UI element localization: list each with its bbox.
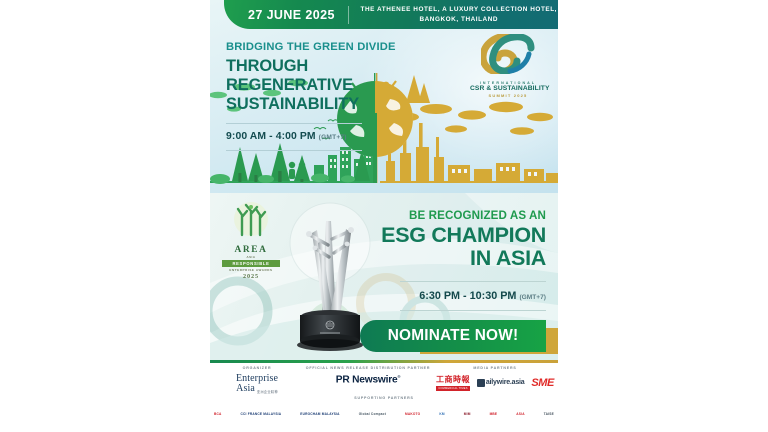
- supporting-partner-label: MBE: [490, 413, 498, 417]
- supporting-partner-label: KM: [439, 413, 444, 417]
- awards-timezone: (GMT+7): [519, 294, 546, 301]
- event-poster: BRIDGING THE GREEN DIVIDE THROUGH REGENE…: [210, 0, 558, 432]
- supporting-partner-label: BCA: [214, 413, 222, 417]
- supporting-partner-label: EUROCHAM MALAYSIA: [300, 413, 339, 417]
- supporting-partner-label: MAKOTO: [405, 413, 420, 417]
- supporting-partner-label: Global Compact: [359, 413, 386, 417]
- enterprise-asia-cn: 亚洲企业精神: [257, 391, 278, 394]
- nominate-now-label: NOMINATE NOW!: [388, 327, 519, 345]
- summit-title-line3: SUSTAINABILITY: [226, 95, 426, 114]
- media-partners-title: MEDIA PARTNERS: [432, 366, 558, 370]
- supporting-partner-bca: BCA: [214, 407, 222, 423]
- enterprise-asia-logo: Enterprise Asia亚洲企业精神: [210, 374, 304, 394]
- commercial-times-logo: 工商時報 COMMERCIAL TIMES: [436, 374, 470, 391]
- pr-newswire-logo: PR Newswire®: [304, 374, 432, 385]
- commercial-times-band: COMMERCIAL TIMES: [436, 386, 470, 391]
- organizer-title: ORGANIZER: [210, 366, 304, 370]
- summit-title-line2: REGENERATIVE: [226, 76, 426, 95]
- awards-banner: AREA ASIA RESPONSIBLE ENTERPRISE AWARDS …: [210, 193, 558, 360]
- event-date: 27 JUNE 2025: [248, 8, 335, 22]
- area-logo-band: RESPONSIBLE: [222, 260, 280, 267]
- pr-partner-column: OFFICIAL NEWS RELEASE DISTRIBUTION PARTN…: [304, 366, 432, 385]
- supporting-partners-title: SUPPORTING PARTNERS: [210, 396, 558, 400]
- primary-partners-row: ORGANIZER Enterprise Asia亚洲企业精神 OFFICIAL…: [210, 366, 558, 394]
- area-logo-mark: [230, 201, 272, 239]
- event-venue: THE ATHENEE HOTEL, A LUXURY COLLECTION H…: [360, 5, 558, 25]
- nominate-cta-wrap[interactable]: NOMINATE NOW!: [360, 320, 558, 354]
- pr-newswire-label: PR Newswire: [336, 374, 398, 385]
- header-divider: [348, 6, 349, 24]
- partners-footer: ORGANIZER Enterprise Asia亚洲企业精神 OFFICIAL…: [210, 360, 558, 432]
- summit-logo: INTERNATIONAL CSR & SUSTAINABILITY SUMMI…: [470, 34, 546, 98]
- commercial-times-cn: 工商時報: [436, 374, 470, 385]
- summit-time: 9:00 AM - 4:00 PM (GMT+7): [226, 131, 426, 142]
- media-logos-row: 工商時報 COMMERCIAL TIMES ailywire.asia SME: [432, 374, 558, 391]
- summit-logo-mark: [481, 34, 535, 74]
- summit-divider-bottom: [226, 150, 362, 151]
- summit-kicker: BRIDGING THE GREEN DIVIDE: [226, 40, 426, 54]
- awards-title-line1: ESG CHAMPION: [370, 224, 546, 247]
- dailywire-square-icon: [477, 379, 485, 387]
- awards-time-value: 6:30 PM - 10:30 PM: [419, 290, 516, 302]
- supporting-partner-label: ASIA: [516, 413, 524, 417]
- footer-accent-bar: [210, 360, 558, 363]
- awards-divider-bottom: [400, 310, 546, 311]
- summit-divider-top: [226, 123, 362, 124]
- enterprise-asia-line1: Enterprise: [210, 374, 304, 384]
- area-logo-sub: ASIA: [218, 255, 284, 259]
- supporting-partner-eurocham-malaysia: EUROCHAM MALAYSIA: [300, 407, 339, 423]
- media-partners-column: MEDIA PARTNERS 工商時報 COMMERCIAL TIMES ail…: [432, 366, 558, 391]
- supporting-partner-makoto: MAKOTO: [405, 407, 420, 423]
- area-logo-band2: ENTERPRISE AWARDS: [218, 268, 284, 272]
- supporting-partner-mim: MIM: [464, 407, 471, 423]
- pr-partner-title: OFFICIAL NEWS RELEASE DISTRIBUTION PARTN…: [304, 366, 432, 370]
- supporting-partners-row: BCACCI FRANCE MALAYSIAEUROCHAM MALAYSIAG…: [214, 404, 554, 426]
- event-header-bar: 27 JUNE 2025 THE ATHENEE HOTEL, A LUXURY…: [224, 0, 558, 29]
- enterprise-asia-line2: Asia: [236, 384, 255, 394]
- supporting-partner-label: MIM: [464, 413, 471, 417]
- awards-kicker: BE RECOGNIZED AS AN: [370, 209, 546, 222]
- awards-time: 6:30 PM - 10:30 PM (GMT+7): [370, 290, 546, 302]
- supporting-partner-taise: TAISE: [544, 407, 554, 423]
- supporting-partner-enterprise-asia-cn: ASIA: [516, 407, 524, 423]
- summit-timezone: (GMT+7): [319, 134, 347, 141]
- supporting-partner-km: KM: [439, 407, 444, 423]
- area-logo-name: AREA: [218, 245, 284, 255]
- area-logo: AREA ASIA RESPONSIBLE ENTERPRISE AWARDS …: [218, 201, 284, 280]
- awards-title-line2: IN ASIA: [370, 247, 546, 270]
- right-margin: [558, 0, 768, 432]
- nominate-now-button[interactable]: NOMINATE NOW!: [360, 320, 546, 352]
- awards-divider-top: [400, 281, 546, 282]
- supporting-partner-cci-france-malaysia: CCI FRANCE MALAYSIA: [241, 407, 282, 423]
- summit-headline-block: BRIDGING THE GREEN DIVIDE THROUGH REGENE…: [226, 40, 426, 151]
- dailywire-asia-label: ailywire.asia: [486, 379, 525, 386]
- summit-time-value: 9:00 AM - 4:00 PM: [226, 131, 316, 142]
- supporting-partner-label: TAISE: [544, 413, 554, 417]
- sme-logo: SME: [531, 377, 554, 389]
- awards-headline-block: BE RECOGNIZED AS AN ESG CHAMPION IN ASIA…: [370, 209, 546, 311]
- supporting-partner-mbe: MBE: [490, 407, 498, 423]
- dailywire-asia-logo: ailywire.asia: [477, 379, 525, 387]
- left-margin: [0, 0, 210, 432]
- supporting-partner-global-compact: Global Compact: [359, 407, 386, 423]
- area-logo-year: 2025: [218, 273, 284, 280]
- organizer-column: ORGANIZER Enterprise Asia亚洲企业精神: [210, 366, 304, 394]
- supporting-partner-label: CCI FRANCE MALAYSIA: [241, 413, 282, 417]
- summit-logo-line2: CSR & SUSTAINABILITY: [470, 85, 546, 92]
- summit-logo-line3: SUMMIT 2025: [470, 93, 546, 98]
- summit-title-line1: THROUGH: [226, 57, 426, 76]
